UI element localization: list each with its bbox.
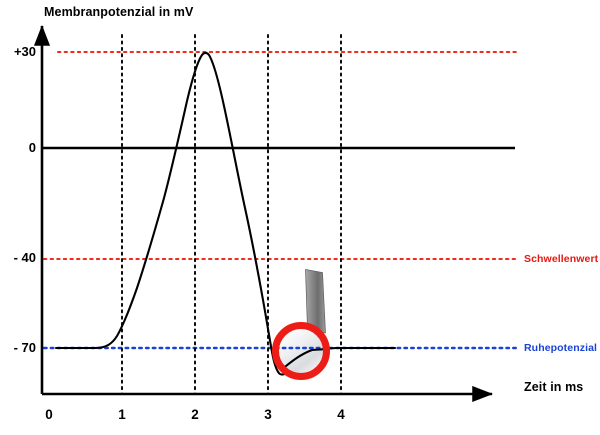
x-tick-label-3: 3 [255, 408, 281, 422]
action-potential-figure: Membranpotenzial in mV Zeit in ms +30 0 … [0, 0, 600, 435]
y-axis-title: Membranpotenzial in mV [44, 6, 193, 19]
x-tick-label-1: 1 [109, 408, 135, 422]
x-axis-title: Zeit in ms [524, 381, 583, 394]
x-tick-label-0: 0 [36, 408, 62, 422]
y-tick-label-minus40: - 40 [2, 251, 36, 264]
y-tick-label-plus30: +30 [2, 45, 36, 58]
y-tick-label-minus70: - 70 [2, 341, 36, 354]
resting-potential-label: Ruhepotenzial [524, 343, 597, 354]
x-tick-label-4: 4 [328, 408, 354, 422]
plot-canvas [0, 0, 600, 435]
threshold-label: Schwellenwert [524, 254, 598, 265]
action-potential-curve [56, 53, 395, 375]
y-tick-label-zero: 0 [2, 141, 36, 154]
x-tick-label-2: 2 [182, 408, 208, 422]
